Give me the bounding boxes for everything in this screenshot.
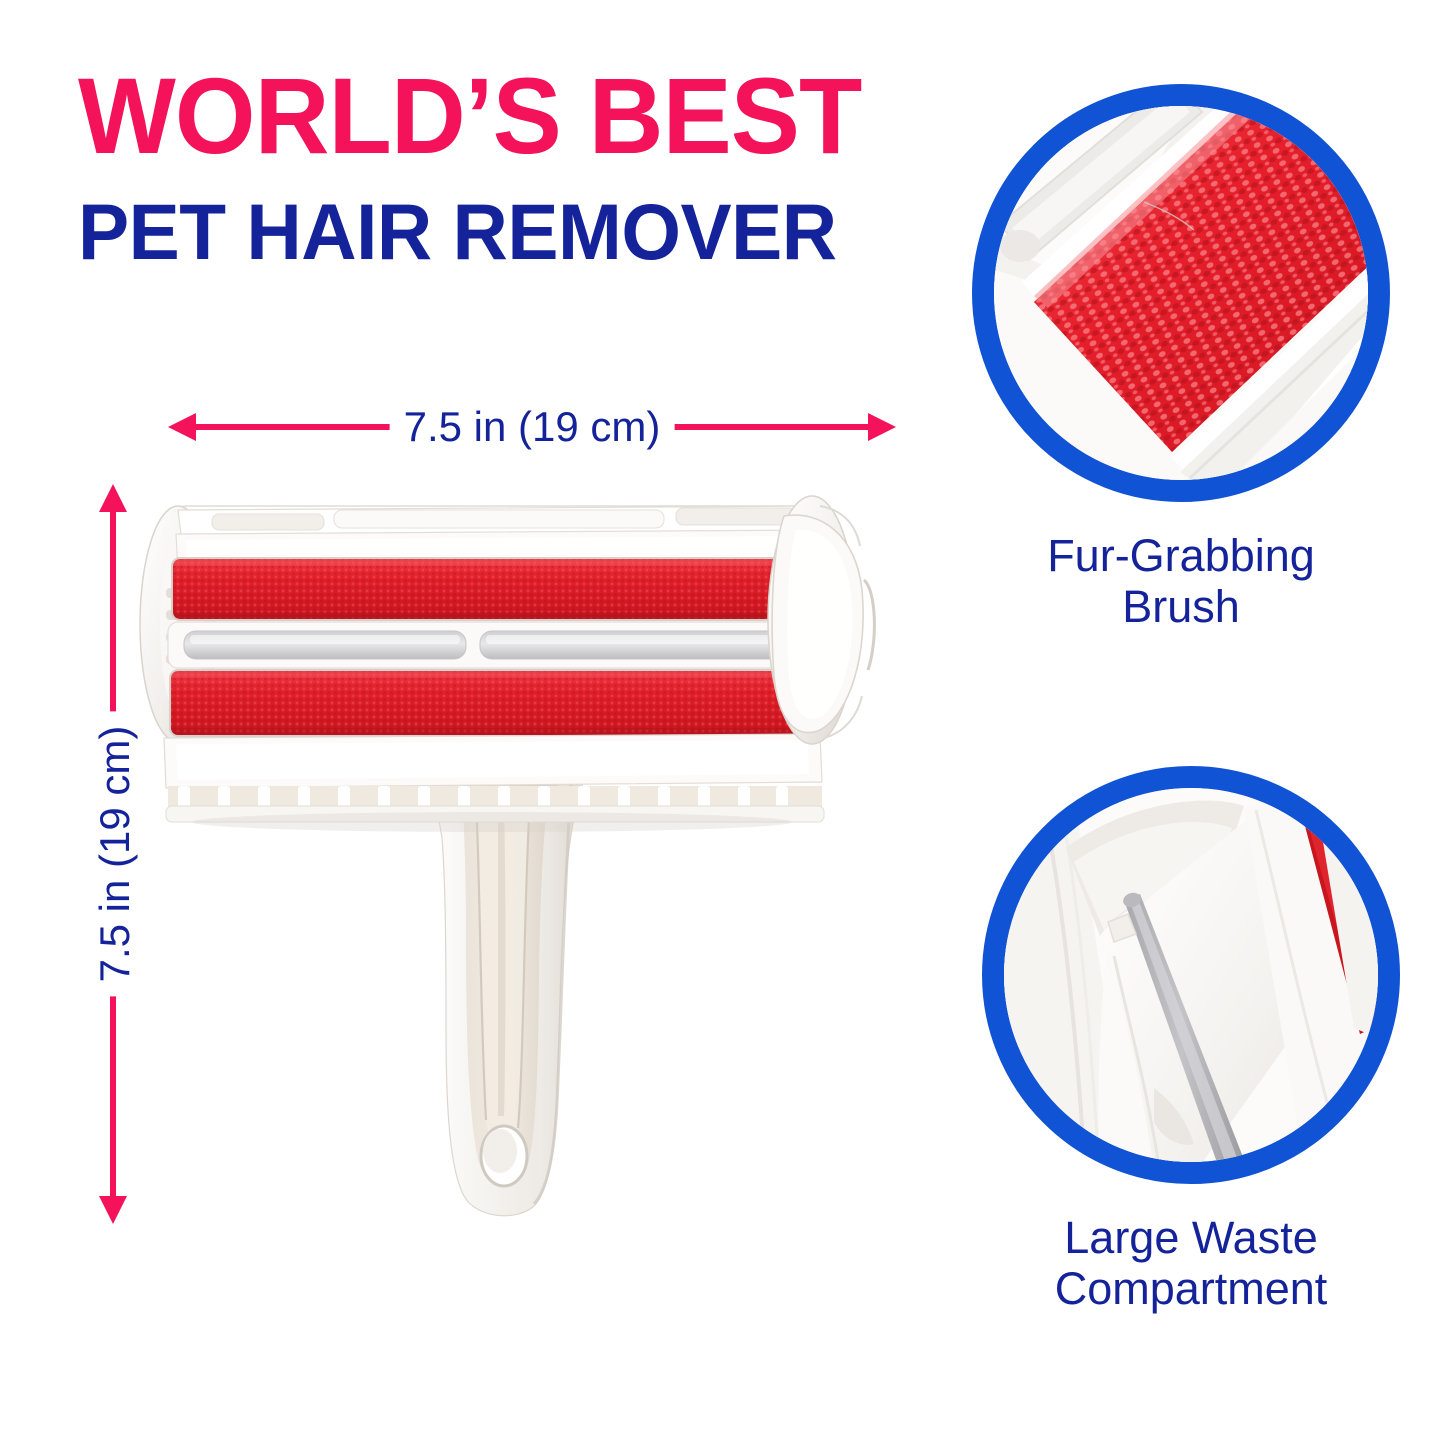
callout-waste-caption: Large Waste Compartment [982,1212,1400,1315]
callout-waste-circle [982,766,1400,1184]
arrow-right-icon [868,413,896,441]
product-image-pet-hair-remover [120,470,920,1270]
width-dimension-label: 7.5 in (19 cm) [390,398,675,456]
dimension-rule-right [654,424,870,430]
callout-fur-grabbing-brush: Fur-Grabbing Brush [972,84,1390,633]
callout-brush-circle [972,84,1390,502]
callout-brush-caption: Fur-Grabbing Brush [972,530,1390,633]
callout-large-waste-compartment: Large Waste Compartment [982,766,1400,1315]
dimension-rule-top [110,510,116,722]
callout-waste-caption-line2: Compartment [982,1263,1400,1314]
headline-block: WORLD’S BEST PET HAIR REMOVER [78,62,908,271]
callout-brush-caption-line1: Fur-Grabbing [972,530,1390,581]
headline-secondary: PET HAIR REMOVER [78,192,883,271]
callout-brush-caption-line2: Brush [972,581,1390,632]
headline-primary: WORLD’S BEST [78,62,875,170]
width-dimension-indicator: 7.5 in (19 cm) [168,398,896,460]
callout-waste-caption-line1: Large Waste [982,1212,1400,1263]
arrow-left-icon [168,413,196,441]
dimension-rule-bottom [110,986,116,1198]
